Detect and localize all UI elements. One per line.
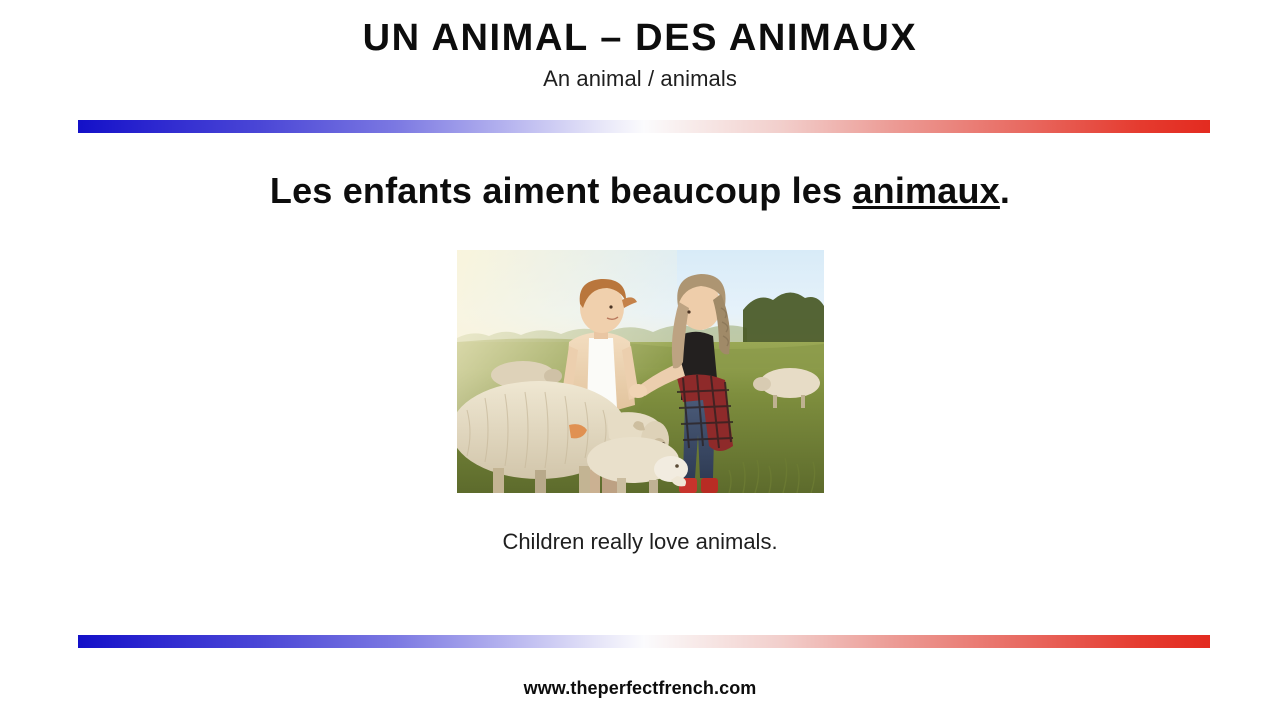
divider-bottom: [78, 635, 1210, 648]
divider-top: [78, 120, 1210, 133]
sentence-suffix: .: [1000, 170, 1010, 211]
example-sentence-french: Les enfants aiment beaucoup les animaux.: [0, 170, 1280, 212]
page-subtitle: An animal / animals: [0, 66, 1280, 92]
slide: UN ANIMAL – DES ANIMAUX An animal / anim…: [0, 0, 1280, 720]
footer-website: www.theperfectfrench.com: [0, 678, 1280, 699]
photo-illustration: [457, 250, 824, 493]
divider-top-gradient: [78, 120, 1210, 133]
example-photo: [457, 250, 824, 493]
page-title: UN ANIMAL – DES ANIMAUX: [0, 17, 1280, 60]
header: UN ANIMAL – DES ANIMAUX An animal / anim…: [0, 0, 1280, 92]
sentence-prefix: Les enfants aiment beaucoup les: [270, 170, 853, 211]
divider-bottom-gradient: [78, 635, 1210, 648]
highlighted-word: animaux: [852, 170, 999, 211]
example-caption-english: Children really love animals.: [0, 529, 1280, 555]
